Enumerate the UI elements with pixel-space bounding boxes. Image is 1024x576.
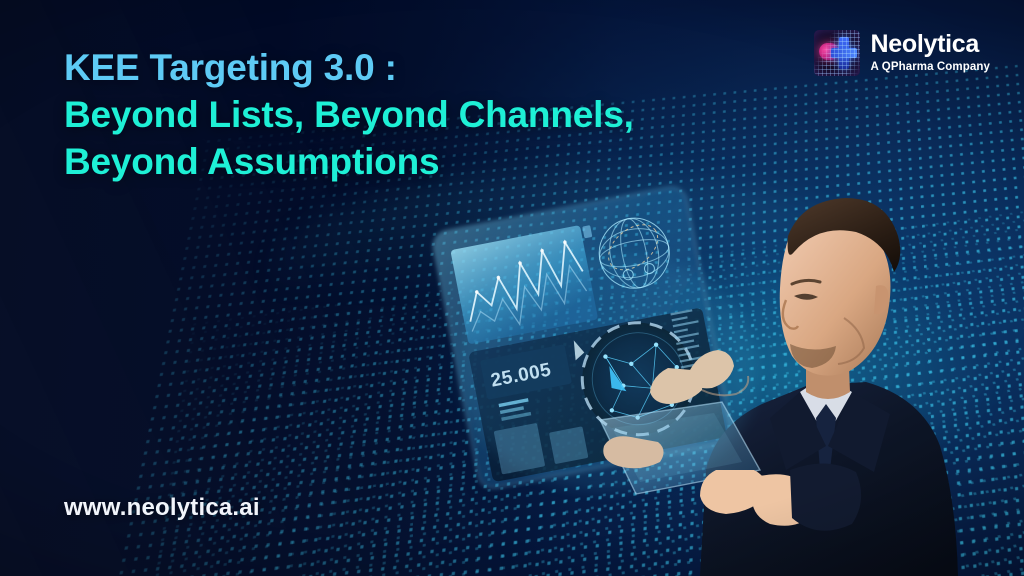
headline-line-3: Beyond Assumptions [64, 138, 744, 185]
logo-circuit-texture [814, 30, 860, 76]
logo-tagline: A QPharma Company [871, 62, 991, 74]
brand-logo[interactable]: Neolytica A QPharma Company [814, 30, 991, 76]
website-url[interactable]: www.neolytica.ai [64, 494, 260, 522]
logo-brand-name: Neolytica [871, 32, 991, 57]
promo-banner: 25.005 [0, 0, 1024, 576]
headline-line-2: Beyond Lists, Beyond Channels, [64, 91, 744, 138]
logo-text-block: Neolytica A QPharma Company [871, 32, 991, 74]
headline-line-1: KEE Targeting 3.0 : [64, 44, 744, 91]
neolytica-logo-mark-icon [814, 30, 860, 76]
headline: KEE Targeting 3.0 : Beyond Lists, Beyond… [64, 44, 744, 185]
